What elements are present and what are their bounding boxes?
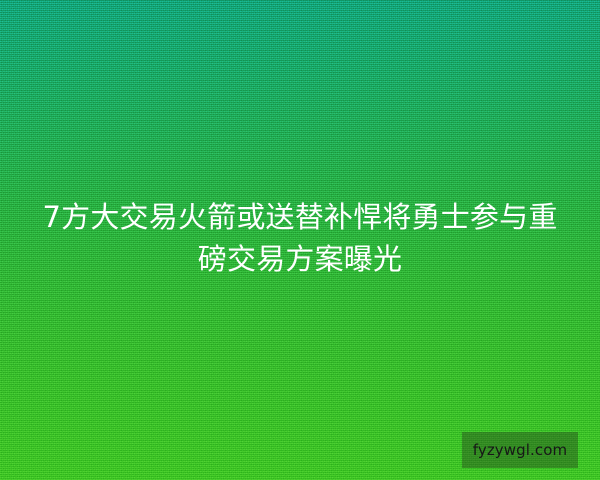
- headline-text: 7方大交易火箭或送替补悍将勇士参与重磅交易方案曝光: [30, 196, 570, 280]
- watermark-badge: fyzywgl.com: [462, 432, 578, 468]
- watermark-label: fyzywgl.com: [473, 443, 568, 458]
- image-canvas: 7方大交易火箭或送替补悍将勇士参与重磅交易方案曝光 fyzywgl.com: [0, 0, 600, 480]
